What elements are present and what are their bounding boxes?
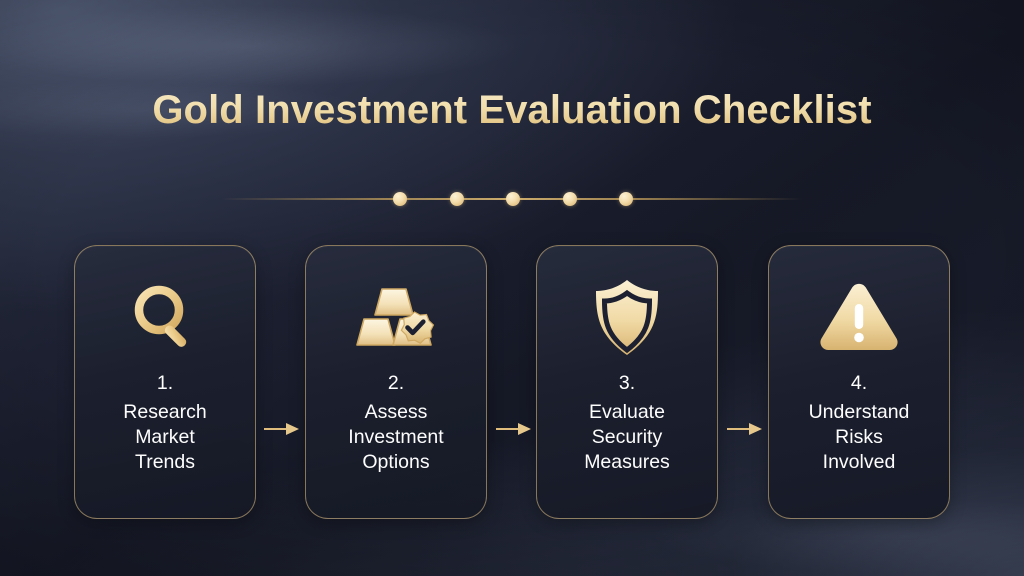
arrow-head-icon (286, 423, 299, 435)
arrow-step2-to-step3 (496, 423, 532, 435)
magnifier-icon (126, 270, 204, 366)
step-card-text-1: 1.ResearchMarketTrends (75, 370, 255, 475)
step-card-1[interactable]: 1.ResearchMarketTrends (74, 245, 256, 519)
step-card-4[interactable]: 4.UnderstandRisksInvolved (768, 245, 950, 519)
arrow-head-icon (518, 423, 531, 435)
step-card-text-4: 4.UnderstandRisksInvolved (769, 370, 949, 475)
step-number-1: 1. (75, 370, 255, 397)
gold-bars-verified-icon (354, 270, 438, 366)
step-number-4: 4. (769, 370, 949, 397)
divider-dot-5 (619, 192, 633, 206)
dot-divider (0, 198, 1024, 200)
arrow-step1-to-step2 (264, 423, 300, 435)
step-label-1: ResearchMarketTrends (75, 400, 255, 475)
step-label-3: EvaluateSecurityMeasures (537, 400, 717, 475)
step-card-text-3: 3.EvaluateSecurityMeasures (537, 370, 717, 475)
step-label-2: AssessInvestmentOptions (306, 400, 486, 475)
step-number-3: 3. (537, 370, 717, 397)
divider-dot-4 (563, 192, 577, 206)
arrow-shaft (264, 428, 288, 430)
step-card-2[interactable]: 2.AssessInvestmentOptions (305, 245, 487, 519)
slide-canvas: Gold Investment Evaluation Checklist 1.R… (0, 0, 1024, 576)
arrow-shaft (496, 428, 520, 430)
page-title: Gold Investment Evaluation Checklist (0, 88, 1024, 133)
divider-dot-1 (393, 192, 407, 206)
step-number-2: 2. (306, 370, 486, 397)
arrow-step3-to-step4 (727, 423, 763, 435)
divider-dot-3 (506, 192, 520, 206)
arrow-head-icon (749, 423, 762, 435)
arrow-shaft (727, 428, 751, 430)
step-card-3[interactable]: 3.EvaluateSecurityMeasures (536, 245, 718, 519)
checklist-steps: 1.ResearchMarketTrends 2.AssessInvestmen… (74, 245, 950, 519)
divider-dot-2 (450, 192, 464, 206)
shield-icon (591, 270, 663, 366)
step-card-text-2: 2.AssessInvestmentOptions (306, 370, 486, 475)
warning-triangle-icon (817, 270, 901, 366)
step-label-4: UnderstandRisksInvolved (769, 400, 949, 475)
